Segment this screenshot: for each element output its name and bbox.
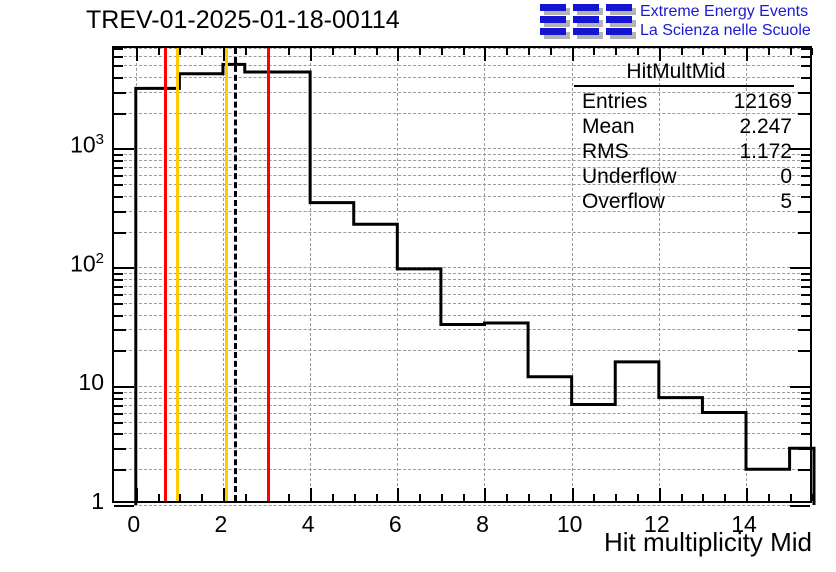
stats-value: 12169 bbox=[734, 89, 792, 114]
y-axis-tick-label: 1 bbox=[91, 488, 104, 515]
x-axis-tick-label: 0 bbox=[127, 511, 140, 538]
mean-line bbox=[234, 48, 237, 501]
stats-row: Overflow5 bbox=[552, 189, 800, 214]
y-axis-tick-label: 102 bbox=[70, 250, 104, 278]
stats-key: RMS bbox=[582, 139, 629, 164]
stats-box: HitMultMid Entries12169Mean2.247RMS1.172… bbox=[552, 60, 800, 214]
stats-value: 0 bbox=[780, 164, 792, 189]
orange-line-left bbox=[176, 48, 179, 501]
stats-row: RMS1.172 bbox=[552, 139, 800, 164]
stats-key: Underflow bbox=[582, 164, 677, 189]
y-axis-tick-label: 103 bbox=[70, 131, 104, 159]
eee-logo: Extreme Energy Events La Scienza nelle S… bbox=[540, 2, 832, 42]
red-line-left bbox=[164, 48, 167, 501]
stats-row: Mean2.247 bbox=[552, 114, 800, 139]
x-axis-tick-label: 10 bbox=[557, 511, 583, 538]
stats-value: 5 bbox=[780, 189, 792, 214]
stats-key: Mean bbox=[582, 114, 635, 139]
x-axis-tick-label: 4 bbox=[302, 511, 315, 538]
stats-key: Overflow bbox=[582, 189, 665, 214]
y-axis-tick-label: 10 bbox=[78, 369, 104, 396]
y-tick-right bbox=[790, 505, 810, 507]
gridline-horizontal bbox=[114, 505, 810, 506]
root-canvas: TREV-01-2025-01-18-00114 Extreme Energy … bbox=[0, 0, 836, 572]
stats-value: 2.247 bbox=[739, 114, 792, 139]
eee-letter-3 bbox=[606, 4, 632, 36]
eee-logo-line1: Extreme Energy Events bbox=[640, 2, 811, 21]
orange-line-right bbox=[225, 48, 228, 501]
stats-key: Entries bbox=[582, 89, 647, 114]
x-axis-tick-label: 2 bbox=[215, 511, 228, 538]
stats-title: HitMultMid bbox=[552, 60, 800, 85]
eee-letter-1 bbox=[540, 4, 566, 36]
red-line-right bbox=[267, 48, 270, 501]
stats-rows: Entries12169Mean2.247RMS1.172Underflow0O… bbox=[552, 89, 800, 214]
eee-letter-2 bbox=[573, 4, 599, 36]
eee-logo-text: Extreme Energy Events La Scienza nelle S… bbox=[640, 2, 811, 40]
y-tick bbox=[114, 505, 134, 507]
x-axis-title: Hit multiplicity Mid bbox=[604, 527, 812, 558]
eee-logo-mark bbox=[540, 4, 636, 36]
stats-row: Entries12169 bbox=[552, 89, 800, 114]
eee-logo-line2: La Scienza nelle Scuole bbox=[640, 21, 811, 40]
stats-value: 1.172 bbox=[739, 139, 792, 164]
x-axis-tick-label: 8 bbox=[476, 511, 489, 538]
stats-divider bbox=[574, 85, 794, 87]
x-axis-tick-label: 6 bbox=[389, 511, 402, 538]
stats-row: Underflow0 bbox=[552, 164, 800, 189]
page-title: TREV-01-2025-01-18-00114 bbox=[86, 6, 400, 35]
